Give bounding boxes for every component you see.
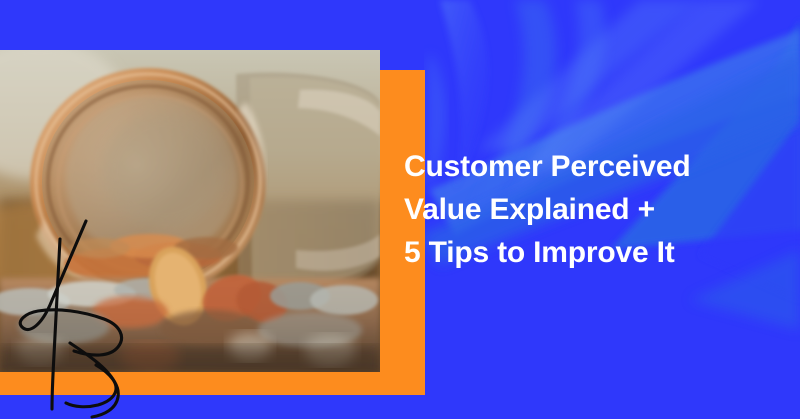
- title-line-2: Value Explained +: [404, 188, 794, 231]
- orange-baseline-bar: [0, 372, 425, 395]
- title-line-1: Customer Perceived: [404, 145, 794, 188]
- page-title: Customer Perceived Value Explained + 5 T…: [404, 145, 794, 274]
- hero-banner: Customer Perceived Value Explained + 5 T…: [0, 0, 800, 419]
- hero-photo: [0, 50, 380, 372]
- title-line-3: 5 Tips to Improve It: [404, 231, 794, 274]
